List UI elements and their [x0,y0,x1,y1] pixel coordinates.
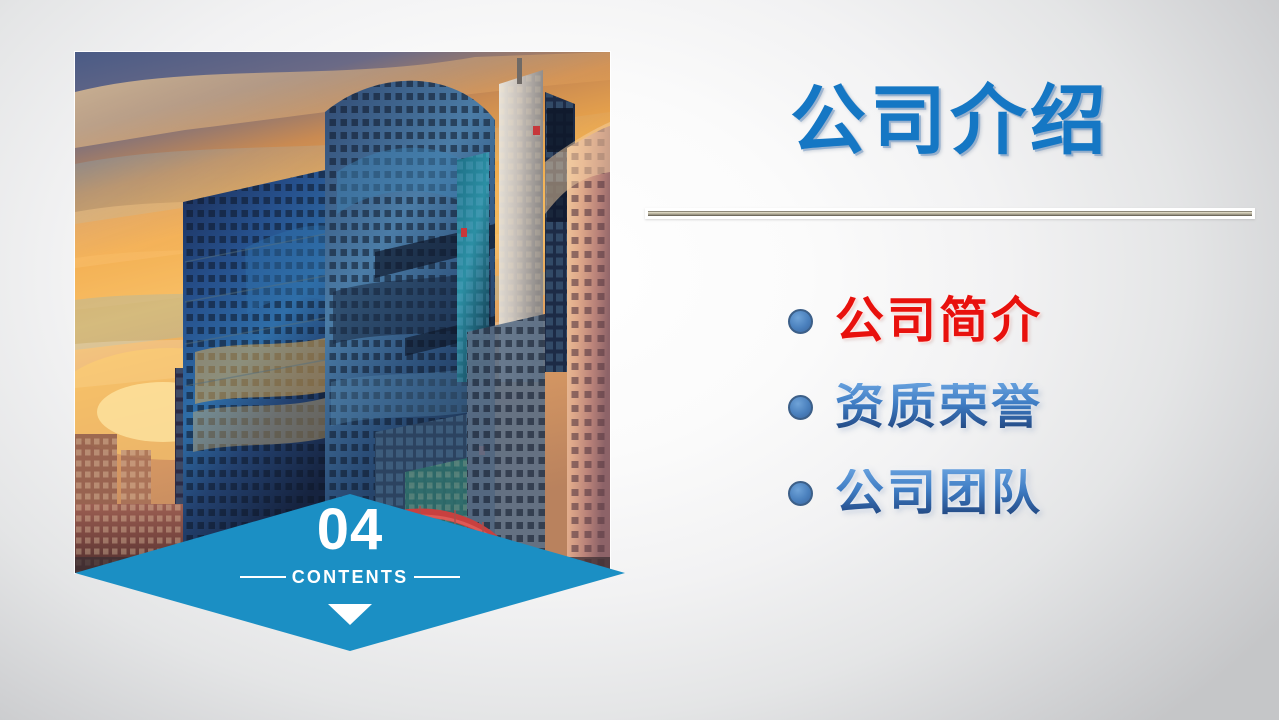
triangle-down-icon [328,604,372,625]
contents-rule-right [414,576,460,578]
contents-label: CONTENTS [292,568,409,586]
bullet-dot-icon [788,395,813,420]
divider-inner-rule [648,211,1252,216]
page-title: 公司介绍 [645,82,1255,162]
title-divider [645,208,1255,219]
menu-item-company-profile[interactable]: 公司简介 [645,278,1255,364]
menu-item-label: 资质荣誉 [835,383,1043,432]
menu-item-qualifications-honors[interactable]: 资质荣誉 [645,364,1255,450]
contents-banner: 04 CONTENTS [75,494,625,651]
section-number: 04 [75,501,625,559]
contents-row: CONTENTS [75,568,625,586]
menu-item-label: 公司团队 [835,469,1043,518]
bullet-dot-icon [788,481,813,506]
contents-rule-left [240,576,286,578]
menu-item-company-team[interactable]: 公司团队 [645,450,1255,536]
bullet-dot-icon [788,309,813,334]
presentation-slide: 04 CONTENTS 公司介绍 公司简介 资质荣誉 公司团队 [0,0,1279,720]
menu-item-label: 公司简介 [835,297,1043,346]
agenda-menu: 公司简介 资质荣誉 公司团队 [645,278,1255,536]
